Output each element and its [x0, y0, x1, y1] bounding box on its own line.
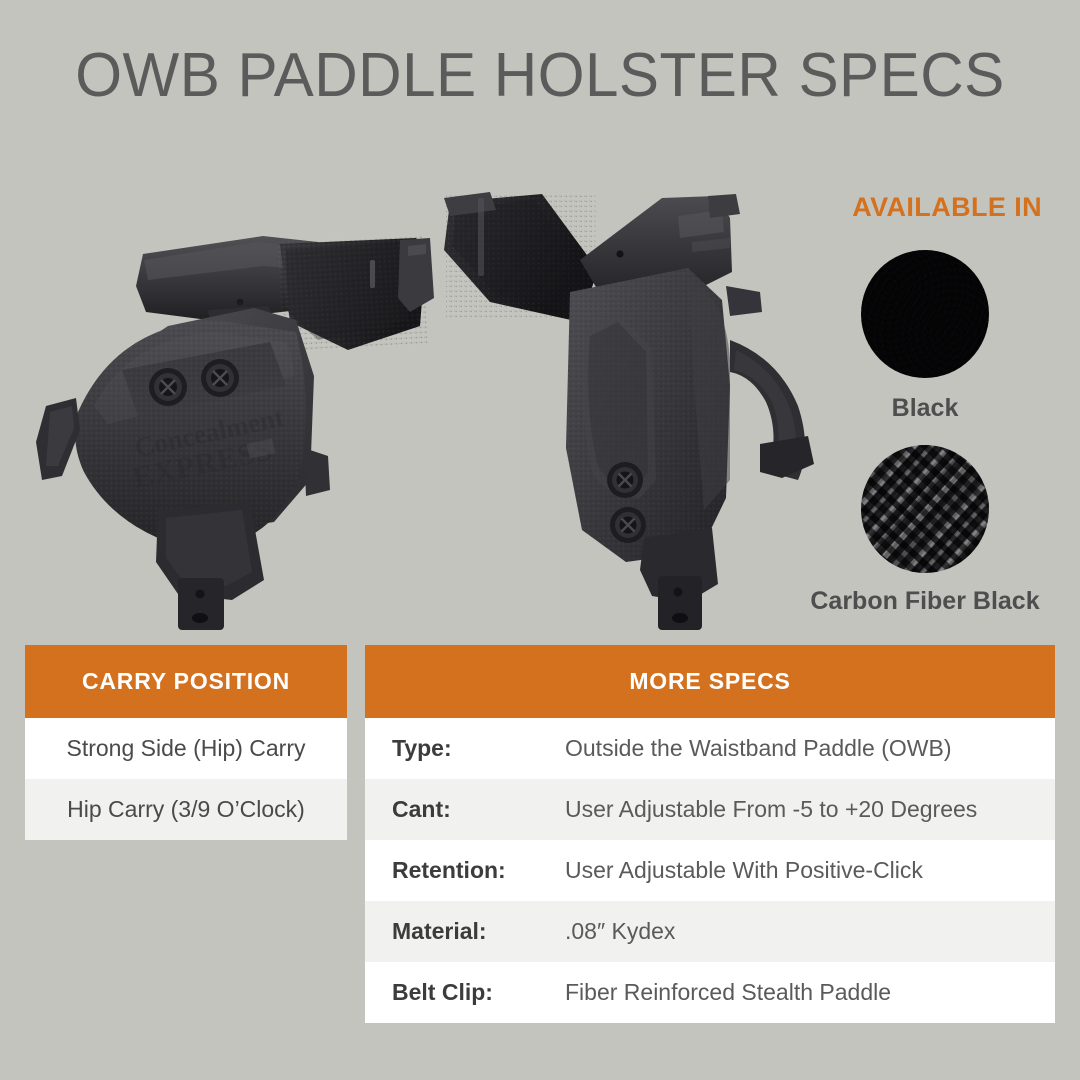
retention-screw-1	[149, 368, 187, 406]
color-option-label: Black	[800, 394, 1050, 423]
page-title: OWB PADDLE HOLSTER SPECS	[16, 44, 1064, 108]
more-specs-table: MORE SPECS Type: Outside the Waistband P…	[365, 645, 1055, 1023]
color-option-label: Carbon Fiber Black	[800, 587, 1050, 616]
table-row: Material: .08″ Kydex	[365, 901, 1055, 962]
spec-value: .08″ Kydex	[565, 918, 675, 945]
retention-screw-2	[201, 359, 239, 397]
spec-label: Type:	[392, 735, 565, 762]
holster-rear-view	[430, 180, 830, 630]
carry-position-value: Strong Side (Hip) Carry	[66, 735, 305, 762]
spec-label: Belt Clip:	[392, 979, 565, 1006]
spec-label: Cant:	[392, 796, 565, 823]
table-row: Type: Outside the Waistband Paddle (OWB)	[365, 718, 1055, 779]
carry-position-value: Hip Carry (3/9 O’Clock)	[67, 796, 305, 823]
spec-value: User Adjustable With Positive-Click	[565, 857, 923, 884]
color-option-carbon-fiber[interactable]: Carbon Fiber Black	[800, 445, 1050, 616]
table-row: Strong Side (Hip) Carry	[25, 718, 347, 779]
holster-front-view: Concealment EXPRESS	[18, 180, 438, 630]
spec-value: Outside the Waistband Paddle (OWB)	[565, 735, 952, 762]
available-in-heading: AVAILABLE IN	[852, 192, 1042, 223]
more-specs-header: MORE SPECS	[365, 645, 1055, 718]
table-row: Belt Clip: Fiber Reinforced Stealth Padd…	[365, 962, 1055, 1023]
spec-value: Fiber Reinforced Stealth Paddle	[565, 979, 891, 1006]
table-row: Cant: User Adjustable From -5 to +20 Deg…	[365, 779, 1055, 840]
spec-value: User Adjustable From -5 to +20 Degrees	[565, 796, 977, 823]
retention-screw-3	[607, 462, 643, 498]
table-row: Hip Carry (3/9 O’Clock)	[25, 779, 347, 840]
black-texture-swatch[interactable]	[861, 250, 989, 378]
retention-screw-4	[610, 507, 646, 543]
spec-label: Retention:	[392, 857, 565, 884]
product-image-stage: Concealment EXPRESS	[0, 180, 820, 630]
table-row: Retention: User Adjustable With Positive…	[365, 840, 1055, 901]
color-option-black[interactable]: Black	[800, 250, 1050, 423]
carbon-fiber-swatch[interactable]	[861, 445, 989, 573]
carry-position-table: CARRY POSITION Strong Side (Hip) Carry H…	[25, 645, 347, 840]
spec-label: Material:	[392, 918, 565, 945]
carry-position-header: CARRY POSITION	[25, 645, 347, 718]
